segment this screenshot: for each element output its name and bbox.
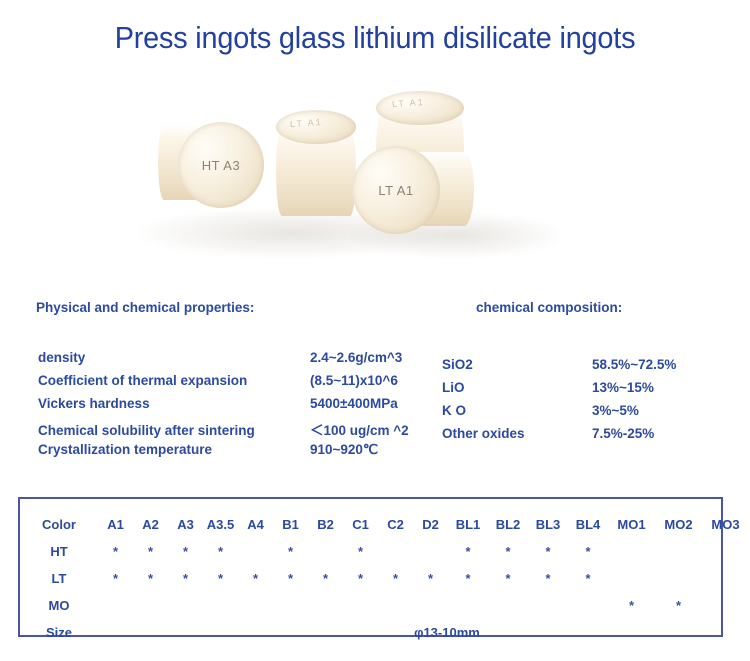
- star-icon: *: [393, 571, 398, 586]
- column-header-a1: A1: [98, 511, 133, 538]
- shade-mark-available: *: [448, 565, 488, 592]
- property-row-thermal-expansion: Coefficient of thermal expansion (8.5~11…: [38, 373, 409, 396]
- star-icon: *: [183, 571, 188, 586]
- shade-mark-available: *: [98, 538, 133, 565]
- shade-mark-empty: [608, 538, 655, 565]
- column-header-a2: A2: [133, 511, 168, 538]
- row-header-lt: LT: [20, 565, 98, 592]
- column-header-bl1: BL1: [448, 511, 488, 538]
- shade-mark-available: *: [655, 592, 702, 619]
- shade-mark-available: *: [273, 538, 308, 565]
- composition-value: 58.5%~72.5%: [592, 357, 676, 372]
- shade-mark-available: *: [98, 565, 133, 592]
- shade-mark-available: *: [168, 565, 203, 592]
- table-corner-label: Color: [20, 511, 98, 538]
- composition-value: 7.5%-25%: [592, 426, 654, 441]
- shade-mark-available: *: [378, 565, 413, 592]
- size-value: φ13-10mm: [98, 619, 750, 646]
- composition-row-ko: K O 3%~5%: [442, 403, 676, 426]
- shade-mark-available: *: [203, 565, 238, 592]
- star-icon: *: [113, 571, 118, 586]
- composition-heading: chemical composition:: [476, 300, 622, 315]
- property-row-chemical-solubility: Chemical solubility after sintering ＜100…: [38, 419, 409, 442]
- star-icon: *: [505, 544, 510, 559]
- star-icon: *: [323, 571, 328, 586]
- shade-mark-empty: [528, 592, 568, 619]
- star-icon: *: [218, 544, 223, 559]
- composition-label: Other oxides: [442, 426, 592, 441]
- shade-mark-available: *: [568, 538, 608, 565]
- property-row-vickers-hardness: Vickers hardness 5400±400MPa: [38, 396, 409, 419]
- column-header-c1: C1: [343, 511, 378, 538]
- star-icon: *: [545, 571, 550, 586]
- shade-mark-empty: [168, 592, 203, 619]
- star-icon: *: [428, 571, 433, 586]
- column-header-mo1: MO1: [608, 511, 655, 538]
- ingot-ht-a3-face: HT A3: [178, 122, 264, 208]
- row-header-ht: HT: [20, 538, 98, 565]
- shade-mark-available: *: [308, 565, 343, 592]
- composition-row-sio2: SiO2 58.5%~72.5%: [442, 357, 676, 380]
- shade-availability-table: Color A1A2A3A3.5A4B1B2C1C2D2BL1BL2BL3BL4…: [18, 497, 723, 637]
- property-label: density: [38, 350, 310, 365]
- shade-mark-available: *: [488, 565, 528, 592]
- table-row: HT**********: [20, 538, 750, 565]
- shade-mark-empty: [378, 592, 413, 619]
- property-label: Coefficient of thermal expansion: [38, 373, 310, 388]
- composition-label: LiO: [442, 380, 592, 395]
- ingot-lt-a1-front: LT A1: [352, 146, 474, 236]
- shade-mark-empty: [655, 538, 702, 565]
- shade-mark-available: *: [133, 565, 168, 592]
- shade-mark-empty: [238, 538, 273, 565]
- column-header-mo3: MO3: [702, 511, 749, 538]
- shade-mark-empty: [98, 592, 133, 619]
- composition-label: SiO2: [442, 357, 592, 372]
- shade-mark-empty: [238, 592, 273, 619]
- star-icon: *: [113, 544, 118, 559]
- star-icon: *: [358, 571, 363, 586]
- shade-mark-empty: [273, 592, 308, 619]
- composition-list: SiO2 58.5%~72.5% LiO 13%~15% K O 3%~5% O…: [442, 357, 676, 449]
- property-row-crystallization-temperature: Crystallization temperature 910~920℃: [38, 442, 409, 465]
- properties-heading: Physical and chemical properties:: [36, 300, 254, 315]
- shade-mark-empty: [568, 592, 608, 619]
- star-icon: *: [465, 544, 470, 559]
- shade-mark-empty: [413, 538, 448, 565]
- property-label: Chemical solubility after sintering: [38, 423, 310, 438]
- star-icon: *: [545, 544, 550, 559]
- column-header-a3-5: A3.5: [203, 511, 238, 538]
- column-header-b1: B1: [273, 511, 308, 538]
- shade-mark-empty: [343, 592, 378, 619]
- shade-mark-empty: [702, 592, 749, 619]
- shade-mark-available: *: [448, 538, 488, 565]
- ingot-lt-a1-rear-top: [376, 91, 464, 125]
- shade-mark-empty: [308, 538, 343, 565]
- column-header-c2: C2: [378, 511, 413, 538]
- shade-mark-available: *: [343, 565, 378, 592]
- column-header-mo2: MO2: [655, 511, 702, 538]
- column-header-b2: B2: [308, 511, 343, 538]
- composition-row-lio: LiO 13%~15%: [442, 380, 676, 403]
- shade-mark-empty: [448, 592, 488, 619]
- star-icon: *: [148, 571, 153, 586]
- shade-mark-empty: [702, 565, 749, 592]
- shade-mark-empty: [413, 592, 448, 619]
- column-header-a3: A3: [168, 511, 203, 538]
- star-icon: *: [288, 544, 293, 559]
- property-value: 2.4~2.6g/cm^3: [310, 350, 402, 365]
- shade-table-grid: Color A1A2A3A3.5A4B1B2C1C2D2BL1BL2BL3BL4…: [20, 511, 750, 646]
- shade-mark-available: *: [168, 538, 203, 565]
- star-icon: *: [183, 544, 188, 559]
- shade-mark-empty: [655, 565, 702, 592]
- page-title: Press ingots glass lithium disilicate in…: [26, 20, 724, 56]
- shade-mark-empty: [608, 565, 655, 592]
- table-header-row: Color A1A2A3A3.5A4B1B2C1C2D2BL1BL2BL3BL4…: [20, 511, 750, 538]
- star-icon: *: [465, 571, 470, 586]
- property-label: Vickers hardness: [38, 396, 310, 411]
- property-label: Crystallization temperature: [38, 442, 310, 457]
- table-row-size: Sizeφ13-10mm: [20, 619, 750, 646]
- shade-mark-available: *: [273, 565, 308, 592]
- shade-mark-available: *: [568, 565, 608, 592]
- shade-mark-empty: [133, 592, 168, 619]
- composition-value: 3%~5%: [592, 403, 639, 418]
- product-photo: LT A1 LT A1 HT A3 LT A1: [120, 88, 550, 273]
- shade-mark-available: *: [133, 538, 168, 565]
- table-row: MO**: [20, 592, 750, 619]
- shade-mark-empty: [203, 592, 238, 619]
- ingot-ht-a3: HT A3: [178, 122, 268, 208]
- column-header-bl4: BL4: [568, 511, 608, 538]
- shade-mark-empty: [308, 592, 343, 619]
- shade-mark-empty: [702, 538, 749, 565]
- property-value: ＜100 ug/cm ^2: [310, 419, 409, 439]
- shade-mark-empty: [488, 592, 528, 619]
- property-row-density: density 2.4~2.6g/cm^3: [38, 350, 409, 373]
- row-header-size: Size: [20, 619, 98, 646]
- composition-row-other-oxides: Other oxides 7.5%-25%: [442, 426, 676, 449]
- shade-mark-available: *: [488, 538, 528, 565]
- shade-mark-empty: [378, 538, 413, 565]
- star-icon: *: [288, 571, 293, 586]
- column-header-a4: A4: [238, 511, 273, 538]
- shade-mark-available: *: [608, 592, 655, 619]
- shade-mark-available: *: [528, 538, 568, 565]
- shade-mark-available: *: [528, 565, 568, 592]
- star-icon: *: [585, 544, 590, 559]
- property-value: (8.5~11)x10^6: [310, 373, 398, 388]
- star-icon: *: [676, 598, 681, 613]
- shade-mark-available: *: [238, 565, 273, 592]
- star-icon: *: [253, 571, 258, 586]
- table-row: LT**************: [20, 565, 750, 592]
- property-value: 5400±400MPa: [310, 396, 398, 411]
- star-icon: *: [505, 571, 510, 586]
- ingot-lt-a1-front-face: LT A1: [352, 146, 440, 234]
- row-header-mo: MO: [20, 592, 98, 619]
- shade-mark-available: *: [343, 538, 378, 565]
- composition-label: K O: [442, 403, 592, 418]
- shade-mark-available: *: [203, 538, 238, 565]
- property-value: 910~920℃: [310, 442, 378, 458]
- composition-value: 13%~15%: [592, 380, 654, 395]
- star-icon: *: [585, 571, 590, 586]
- column-header-bl2: BL2: [488, 511, 528, 538]
- shade-mark-available: *: [413, 565, 448, 592]
- column-header-d2: D2: [413, 511, 448, 538]
- star-icon: *: [629, 598, 634, 613]
- star-icon: *: [148, 544, 153, 559]
- column-header-bl3: BL3: [528, 511, 568, 538]
- star-icon: *: [218, 571, 223, 586]
- properties-list: density 2.4~2.6g/cm^3 Coefficient of the…: [38, 350, 409, 465]
- star-icon: *: [358, 544, 363, 559]
